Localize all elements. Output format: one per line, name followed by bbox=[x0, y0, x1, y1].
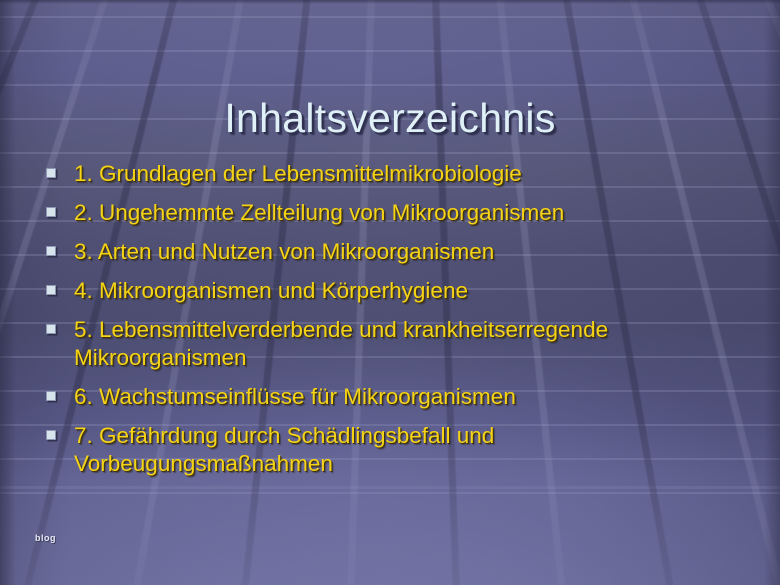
toc-item[interactable]: 1. Grundlagen der Lebensmittelmikrobiolo… bbox=[42, 160, 740, 188]
square-bullet-icon bbox=[46, 246, 56, 256]
table-of-contents-list: 1. Grundlagen der Lebensmittelmikrobiolo… bbox=[42, 160, 740, 478]
toc-item[interactable]: 3. Arten und Nutzen von Mikroorganismen bbox=[42, 238, 740, 266]
toc-item[interactable]: 7. Gefährdung durch Schädlingsbefall und… bbox=[42, 422, 740, 478]
square-bullet-icon bbox=[46, 391, 56, 401]
toc-item[interactable]: 6. Wachstumseinflüsse für Mikroorganisme… bbox=[42, 383, 740, 411]
toc-item[interactable]: 5. Lebensmittelverderbende und krankheit… bbox=[42, 316, 740, 372]
toc-item[interactable]: 2. Ungehemmte Zellteilung von Mikroorgan… bbox=[42, 199, 740, 227]
square-bullet-icon bbox=[46, 285, 56, 295]
presentation-slide: Inhaltsverzeichnis 1. Grundlagen der Leb… bbox=[0, 0, 780, 585]
toc-item-label: 4. Mikroorganismen und Körperhygiene bbox=[74, 277, 740, 305]
toc-item-label: 1. Grundlagen der Lebensmittelmikrobiolo… bbox=[74, 160, 740, 188]
toc-item[interactable]: 4. Mikroorganismen und Körperhygiene bbox=[42, 277, 740, 305]
square-bullet-icon bbox=[46, 430, 56, 440]
slide-title: Inhaltsverzeichnis bbox=[0, 95, 780, 142]
square-bullet-icon bbox=[46, 207, 56, 217]
toc-item-label: 7. Gefährdung durch Schädlingsbefall und… bbox=[74, 422, 740, 478]
square-bullet-icon bbox=[46, 168, 56, 178]
slide-content: Inhaltsverzeichnis 1. Grundlagen der Leb… bbox=[0, 0, 780, 585]
toc-item-label: 5. Lebensmittelverderbende und krankheit… bbox=[74, 316, 740, 372]
toc-item-label: 6. Wachstumseinflüsse für Mikroorganisme… bbox=[74, 383, 740, 411]
toc-item-label: 2. Ungehemmte Zellteilung von Mikroorgan… bbox=[74, 199, 740, 227]
square-bullet-icon bbox=[46, 324, 56, 334]
footer-watermark: blog bbox=[35, 533, 56, 543]
toc-item-label: 3. Arten und Nutzen von Mikroorganismen bbox=[74, 238, 740, 266]
